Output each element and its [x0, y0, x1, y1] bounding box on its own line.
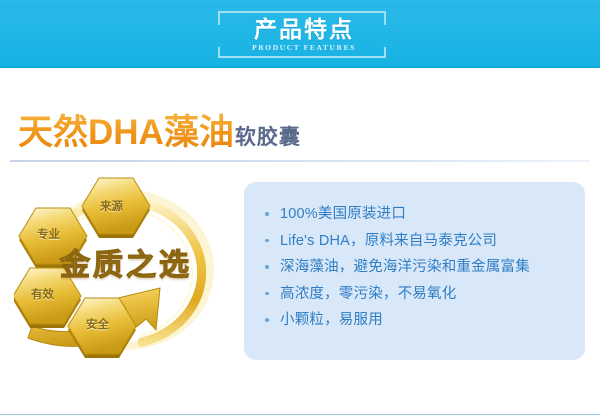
feature-list: 100%美国原装进口 Life's DHA，原料来自马泰克公司 深海藻油，避免海… — [244, 182, 585, 328]
list-item: 小颗粒，易服用 — [264, 312, 585, 328]
feature-text: 高浓度，零污染，不易氧化 — [280, 286, 456, 302]
banner-title: 产品特点 — [220, 16, 388, 42]
feature-text: 100%美国原装进口 — [280, 206, 406, 222]
product-title-main: 天然DHA藻油 — [18, 113, 234, 152]
list-item: 100%美国原装进口 — [264, 206, 585, 222]
bottom-rule — [0, 414, 600, 415]
bullet-icon — [265, 318, 269, 322]
bullet-icon — [265, 265, 269, 269]
bullet-icon — [265, 292, 269, 296]
banner-title-frame: 产品特点 PRODUCT FEATURES — [218, 11, 386, 58]
bullet-icon — [265, 212, 269, 216]
list-item: Life's DHA，原料来自马泰克公司 — [264, 233, 585, 249]
bullet-icon — [265, 239, 269, 243]
badge-graphic-icon — [14, 176, 228, 360]
product-title-suffix: 软胶囊 — [235, 126, 301, 149]
feature-list-box: 100%美国原装进口 Life's DHA，原料来自马泰克公司 深海藻油，避免海… — [244, 182, 585, 360]
banner-underline — [0, 66, 600, 68]
banner-subtitle: PRODUCT FEATURES — [220, 43, 388, 52]
product-title: 天然DHA藻油软胶囊 — [18, 104, 301, 155]
product-features-page: 产品特点 PRODUCT FEATURES 天然DHA藻油软胶囊 — [0, 0, 600, 420]
header-banner: 产品特点 PRODUCT FEATURES — [0, 0, 600, 66]
list-item: 深海藻油，避免海洋污染和重金属富集 — [264, 259, 585, 275]
list-item: 高浓度，零污染，不易氧化 — [264, 286, 585, 302]
feature-text: 小颗粒，易服用 — [280, 312, 383, 328]
title-divider — [10, 160, 590, 162]
feature-text: 深海藻油，避免海洋污染和重金属富集 — [280, 259, 530, 275]
gold-quality-badge: 来源 专业 有效 安全 金质之选 — [14, 176, 228, 360]
feature-text: Life's DHA，原料来自马泰克公司 — [280, 233, 497, 249]
